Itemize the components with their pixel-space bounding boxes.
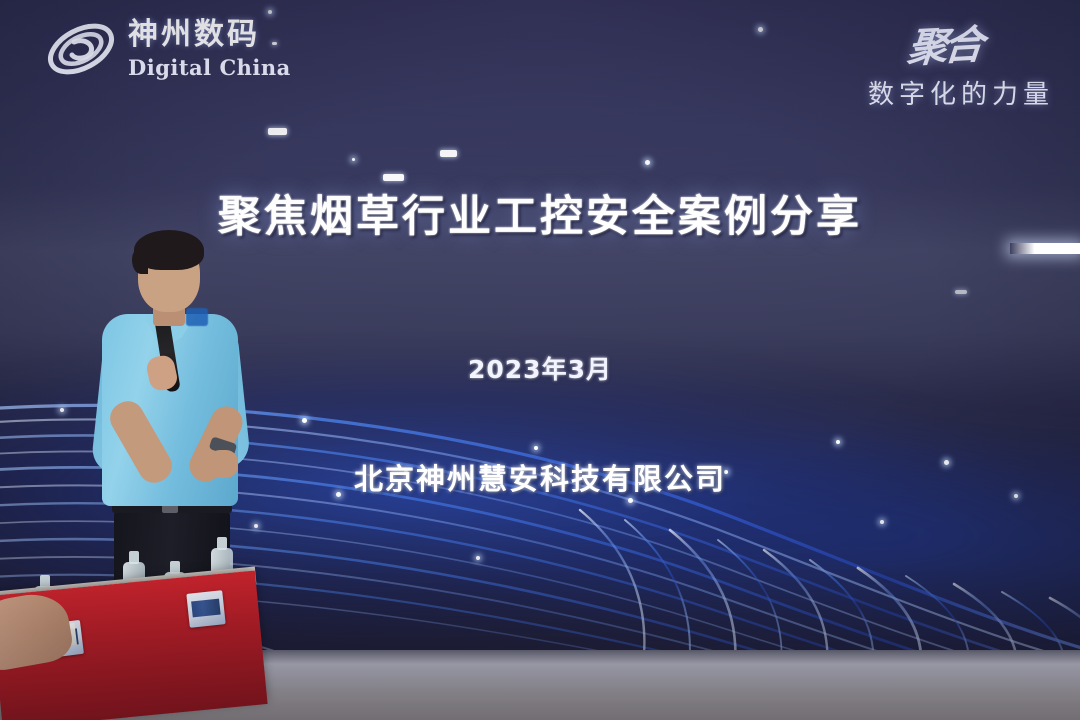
light-particle (836, 440, 840, 444)
light-particle (955, 290, 967, 294)
presenter-right-hand (208, 450, 238, 478)
light-particle (476, 556, 480, 560)
swirl-spiral-icon (44, 18, 118, 80)
light-particle (534, 446, 538, 450)
name-card-text (191, 599, 221, 618)
event-script-title: 聚合 (905, 12, 983, 74)
polo-chest-logo (186, 308, 208, 326)
logo-wordmark: 神州数码 Digital China (128, 20, 291, 78)
logo-chinese-name: 神州数码 (128, 20, 291, 50)
light-particle (440, 150, 457, 157)
light-particle (383, 174, 404, 181)
presenter-hair (134, 230, 204, 270)
digital-china-logo: 神州数码 Digital China (44, 18, 291, 80)
light-particle (758, 27, 763, 32)
light-particle (352, 158, 355, 161)
light-particle (645, 160, 650, 165)
light-particle (268, 128, 287, 135)
light-particle (302, 418, 307, 423)
juhe-event-logo: 聚合 数字化的力量 (868, 14, 1054, 111)
light-particle (880, 520, 884, 524)
screen-light-bar (1010, 243, 1080, 254)
event-subtitle: 数字化的力量 (868, 74, 1054, 111)
name-card (186, 590, 225, 628)
light-particle (268, 10, 272, 14)
light-particle (628, 498, 633, 503)
light-particle (60, 408, 64, 412)
logo-english-name: Digital China (128, 57, 291, 78)
conference-stage-photo: 神州数码 Digital China 聚合 数字化的力量 聚焦烟草行业工控安全案… (0, 0, 1080, 720)
